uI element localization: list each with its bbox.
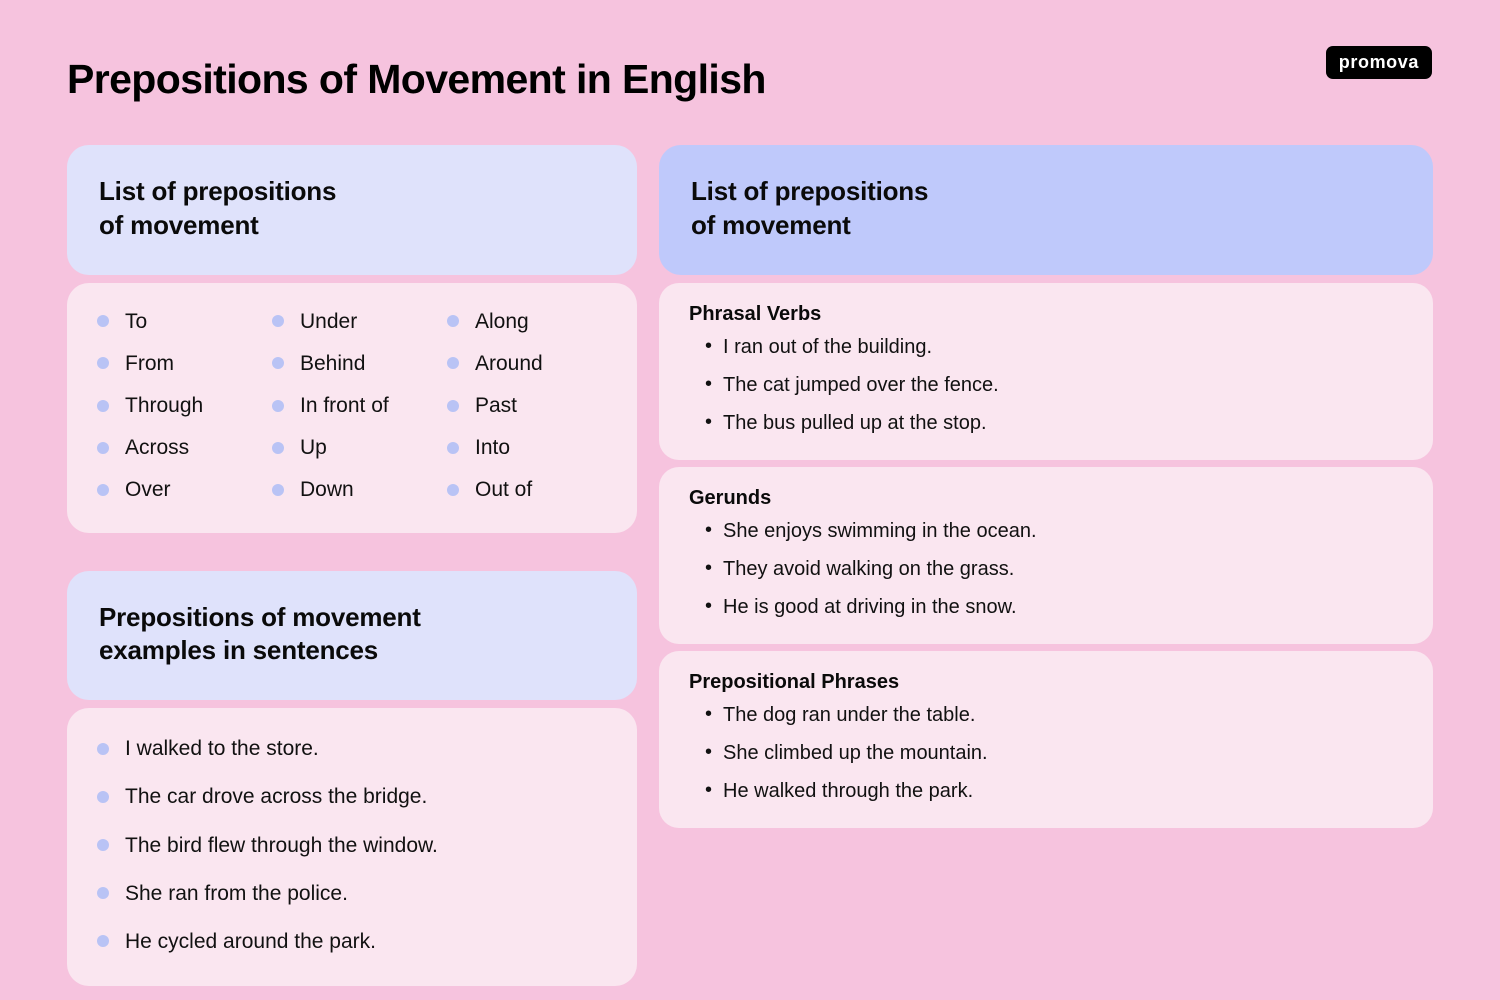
- preposition-label: Over: [125, 477, 171, 502]
- list-item: I walked to the store.: [97, 736, 607, 761]
- list-item: The cat jumped over the fence.: [689, 373, 1403, 398]
- list-item: The dog ran under the table.: [689, 703, 1403, 728]
- sentence-text: The car drove across the bridge.: [125, 784, 427, 809]
- left-list-card-header: List of prepositions of movement: [67, 145, 637, 275]
- prepositional-phrases-list: The dog ran under the table. She climbed…: [689, 703, 1403, 804]
- list-item: Behind: [272, 351, 447, 376]
- list-item: He walked through the park.: [689, 779, 1403, 804]
- page-title: Prepositions of Movement in English: [67, 58, 766, 101]
- list-item: I ran out of the building.: [689, 335, 1403, 360]
- sentence-text: I walked to the store.: [125, 736, 319, 761]
- list-item: Along: [447, 309, 607, 334]
- bullet-dot-icon: [97, 442, 109, 454]
- list-item: Past: [447, 393, 607, 418]
- left-examples-card-title: Prepositions of movement examples in sen…: [99, 601, 605, 669]
- bullet-dot-icon: [97, 357, 109, 369]
- bullet-dot-icon: [272, 400, 284, 412]
- list-item: The bus pulled up at the stop.: [689, 411, 1403, 436]
- bullet-dot-icon: [272, 484, 284, 496]
- preposition-label: Down: [300, 477, 354, 502]
- gerunds-list: She enjoys swimming in the ocean. They a…: [689, 519, 1403, 620]
- section-title: Phrasal Verbs: [689, 303, 1403, 326]
- list-item: Down: [272, 477, 447, 502]
- list-item: Out of: [447, 477, 607, 502]
- spacer: [659, 275, 1433, 283]
- left-list-card-title: List of prepositions of movement: [99, 175, 605, 243]
- bullet-dot-icon: [97, 484, 109, 496]
- list-item: In front of: [272, 393, 447, 418]
- promova-logo: promova: [1326, 46, 1432, 79]
- spacer: [67, 533, 637, 571]
- preposition-label: Behind: [300, 351, 365, 376]
- sentence-text: She ran from the police.: [125, 881, 348, 906]
- right-list-card-title: List of prepositions of movement: [691, 175, 1401, 243]
- preposition-label: Along: [475, 309, 529, 334]
- left-examples-card-body: I walked to the store. The car drove acr…: [67, 708, 637, 986]
- list-item: The bird flew through the window.: [97, 833, 607, 858]
- list-item: Into: [447, 435, 607, 460]
- prepositional-phrases-card: Prepositional Phrases The dog ran under …: [659, 651, 1433, 828]
- bullet-dot-icon: [272, 442, 284, 454]
- section-title: Gerunds: [689, 487, 1403, 510]
- gerunds-card: Gerunds She enjoys swimming in the ocean…: [659, 467, 1433, 644]
- section-title: Prepositional Phrases: [689, 671, 1403, 694]
- bullet-dot-icon: [447, 484, 459, 496]
- preposition-label: Out of: [475, 477, 532, 502]
- phrasal-verbs-card: Phrasal Verbs I ran out of the building.…: [659, 283, 1433, 460]
- list-item: She enjoys swimming in the ocean.: [689, 519, 1403, 544]
- sentence-text: He cycled around the park.: [125, 929, 376, 954]
- bullet-dot-icon: [97, 400, 109, 412]
- preposition-label: Past: [475, 393, 517, 418]
- list-item: The car drove across the bridge.: [97, 784, 607, 809]
- bullet-dot-icon: [97, 315, 109, 327]
- bullet-dot-icon: [447, 315, 459, 327]
- example-sentence-list: I walked to the store. The car drove acr…: [67, 708, 637, 986]
- left-examples-card-header: Prepositions of movement examples in sen…: [67, 571, 637, 701]
- preposition-label: Around: [475, 351, 543, 376]
- left-column: List of prepositions of movement To Unde…: [67, 145, 637, 986]
- bullet-dot-icon: [97, 743, 109, 755]
- list-item: To: [97, 309, 272, 334]
- content-columns: List of prepositions of movement To Unde…: [67, 145, 1433, 986]
- right-column: List of prepositions of movement Phrasal…: [659, 145, 1433, 828]
- preposition-word-grid: To Under Along From Behind: [67, 283, 637, 533]
- list-item: They avoid walking on the grass.: [689, 557, 1403, 582]
- list-item: From: [97, 351, 272, 376]
- sentence-text: The bird flew through the window.: [125, 833, 438, 858]
- list-item: Through: [97, 393, 272, 418]
- list-item: Around: [447, 351, 607, 376]
- list-item: She ran from the police.: [97, 881, 607, 906]
- bullet-dot-icon: [97, 935, 109, 947]
- bullet-dot-icon: [97, 839, 109, 851]
- list-item: He cycled around the park.: [97, 929, 607, 954]
- bullet-dot-icon: [447, 400, 459, 412]
- preposition-label: Under: [300, 309, 357, 334]
- bullet-dot-icon: [97, 887, 109, 899]
- preposition-label: In front of: [300, 393, 389, 418]
- left-list-card-body: To Under Along From Behind: [67, 283, 637, 533]
- preposition-label: Into: [475, 435, 510, 460]
- list-item: He is good at driving in the snow.: [689, 595, 1403, 620]
- page-header: Prepositions of Movement in English prom…: [0, 0, 1500, 145]
- bullet-dot-icon: [272, 315, 284, 327]
- preposition-label: Up: [300, 435, 327, 460]
- spacer: [67, 275, 637, 283]
- spacer: [67, 700, 637, 708]
- preposition-label: Across: [125, 435, 189, 460]
- list-item: She climbed up the mountain.: [689, 741, 1403, 766]
- bullet-dot-icon: [97, 791, 109, 803]
- preposition-label: To: [125, 309, 147, 334]
- list-item: Over: [97, 477, 272, 502]
- phrasal-verbs-list: I ran out of the building. The cat jumpe…: [689, 335, 1403, 436]
- bullet-dot-icon: [272, 357, 284, 369]
- list-item: Up: [272, 435, 447, 460]
- bullet-dot-icon: [447, 442, 459, 454]
- list-item: Under: [272, 309, 447, 334]
- bullet-dot-icon: [447, 357, 459, 369]
- preposition-label: From: [125, 351, 174, 376]
- right-list-card-header: List of prepositions of movement: [659, 145, 1433, 275]
- list-item: Across: [97, 435, 272, 460]
- preposition-label: Through: [125, 393, 203, 418]
